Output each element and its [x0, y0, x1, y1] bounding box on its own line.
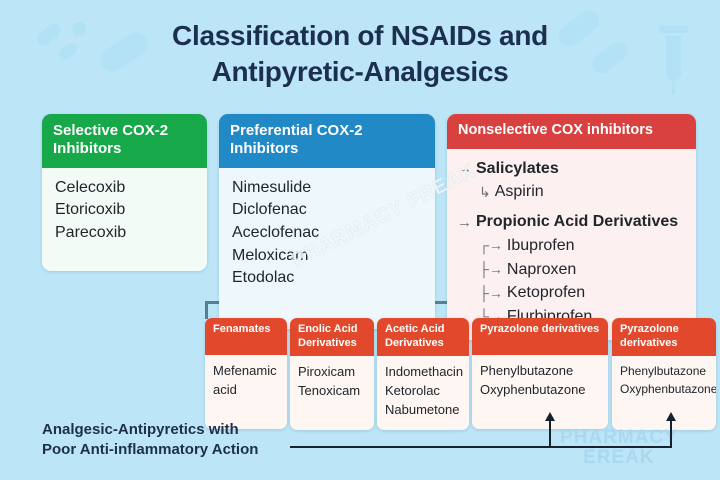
subgroup-header: Enolic Acid Derivatives [290, 318, 374, 356]
arrow-branch-icon: ┌→ [479, 236, 503, 256]
arrow-up-icon [666, 412, 676, 421]
subgroup-card-pyrazolone-1[interactable]: Pyrazolone derivatives Phenylbutazone Ox… [472, 318, 608, 429]
subgroup-body: Phenylbutazone Oxyphenbutazone [472, 355, 608, 429]
category-card-nonselective-cox[interactable]: Nonselective COX inhibitors → Salicylate… [447, 114, 696, 340]
category-body-nonselective-cox: → Salicylates ↳ Aspirin → Propionic Acid… [447, 149, 696, 340]
subgroup-card-enolic-acid[interactable]: Enolic Acid Derivatives Piroxicam Tenoxi… [290, 318, 374, 430]
drug-item: Etoricoxib [55, 199, 195, 222]
page-title: Classification of NSAIDs and Antipyretic… [0, 18, 720, 90]
drug-item: Phenylbutazone [480, 362, 601, 381]
drug-item: Parecoxib [55, 222, 195, 245]
drug-item: Aceclofenac [232, 222, 423, 245]
drug-item: Celecoxib [55, 177, 195, 200]
arrow-right-icon: → [457, 158, 472, 179]
drug-item: Indomethacin [385, 363, 462, 382]
drug-item: Nabumetone [385, 401, 462, 420]
drug-label: Ibuprofen [507, 235, 575, 258]
connector-drop [205, 303, 208, 319]
bottom-note-line-2: Poor Anti-inflammatory Action [42, 441, 258, 458]
subgroup-card-pyrazolone-2[interactable]: Pyrazolone derivatives Phenylbutazone Ox… [612, 318, 716, 430]
drug-item: acid [213, 381, 280, 400]
drug-item: Piroxicam [298, 363, 367, 382]
subgroup-header: Fenamates [205, 318, 287, 355]
arrow-up-icon [545, 412, 555, 421]
drug-item: Nimesulide [232, 177, 423, 200]
drug-label: Naproxen [507, 259, 576, 282]
subgroup-card-fenamates[interactable]: Fenamates Mefenamic acid [205, 318, 287, 429]
bottom-note-line-1: Analgesic-Antipyretics with [42, 421, 239, 438]
category-body-preferential-cox2: Nimesulide Diclofenac Aceclofenac Meloxi… [219, 168, 435, 329]
drug-item: ┌→ Ibuprofen [479, 235, 686, 258]
arrow-branch-icon: ↳ [479, 183, 491, 203]
drug-item: Etodolac [232, 267, 423, 290]
subgroup-card-acetic-acid[interactable]: Acetic Acid Derivatives Indomethacin Ket… [377, 318, 469, 430]
category-body-selective-cox2: Celecoxib Etoricoxib Parecoxib [42, 168, 207, 271]
category-header-selective-cox2: Selective COX-2 Inhibitors [42, 114, 207, 168]
drug-item: ↳ Aspirin [479, 181, 686, 204]
subgroup-body: Indomethacin Ketorolac Nabumetone [377, 356, 469, 430]
drug-item: ├→ Ketoprofen [479, 282, 686, 305]
pointer-line-vertical-1 [549, 420, 551, 448]
subgroup-header: Acetic Acid Derivatives [377, 318, 469, 356]
drug-item: ├→ Naproxen [479, 259, 686, 282]
infographic-canvas: Classification of NSAIDs and Antipyretic… [0, 0, 720, 480]
subgroup-header: Pyrazolone derivatives [472, 318, 608, 355]
drug-item: Oxyphenbutazone [480, 381, 601, 400]
drug-item: Oxyphenbutazone [620, 381, 709, 398]
drug-group-propionic-acid: → Propionic Acid Derivatives [457, 211, 686, 234]
watermark-bottom-line-2: EREAK [560, 448, 678, 468]
bottom-note-label: Analgesic-Antipyretics with Poor Anti-in… [42, 420, 332, 460]
category-card-selective-cox2[interactable]: Selective COX-2 Inhibitors Celecoxib Eto… [42, 114, 207, 271]
drug-item: Ketorolac [385, 382, 462, 401]
drug-group-label: Propionic Acid Derivatives [476, 211, 678, 234]
category-header-preferential-cox2: Preferential COX-2 Inhibitors [219, 114, 435, 168]
arrow-branch-icon: ├→ [479, 284, 503, 304]
drug-group-salicylates: → Salicylates [457, 158, 686, 181]
drug-item: Diclofenac [232, 199, 423, 222]
drug-item: Mefenamic [213, 362, 280, 381]
subgroup-header: Pyrazolone derivatives [612, 318, 716, 356]
pointer-line-horizontal [290, 446, 672, 448]
watermark-bottom-line-1: PHARMACY [560, 428, 678, 448]
drug-item: Meloxicam [232, 245, 423, 268]
subgroup-body: Phenylbutazone Oxyphenbutazone [612, 356, 716, 430]
drug-item: Tenoxicam [298, 382, 367, 401]
category-header-nonselective-cox: Nonselective COX inhibitors [447, 114, 696, 149]
drug-label: Aspirin [495, 181, 544, 204]
arrow-branch-icon: ├→ [479, 260, 503, 280]
title-line-1: Classification of NSAIDs and [172, 20, 548, 51]
category-card-preferential-cox2[interactable]: Preferential COX-2 Inhibitors Nimesulide… [219, 114, 435, 329]
arrow-right-icon: → [457, 212, 472, 233]
drug-group-label: Salicylates [476, 158, 559, 181]
subgroup-body: Mefenamic acid [205, 355, 287, 429]
drug-item: Phenylbutazone [620, 363, 709, 380]
title-line-2: Antipyretic-Analgesics [0, 54, 720, 90]
drug-label: Ketoprofen [507, 282, 585, 305]
pointer-line-vertical-2 [670, 420, 672, 448]
